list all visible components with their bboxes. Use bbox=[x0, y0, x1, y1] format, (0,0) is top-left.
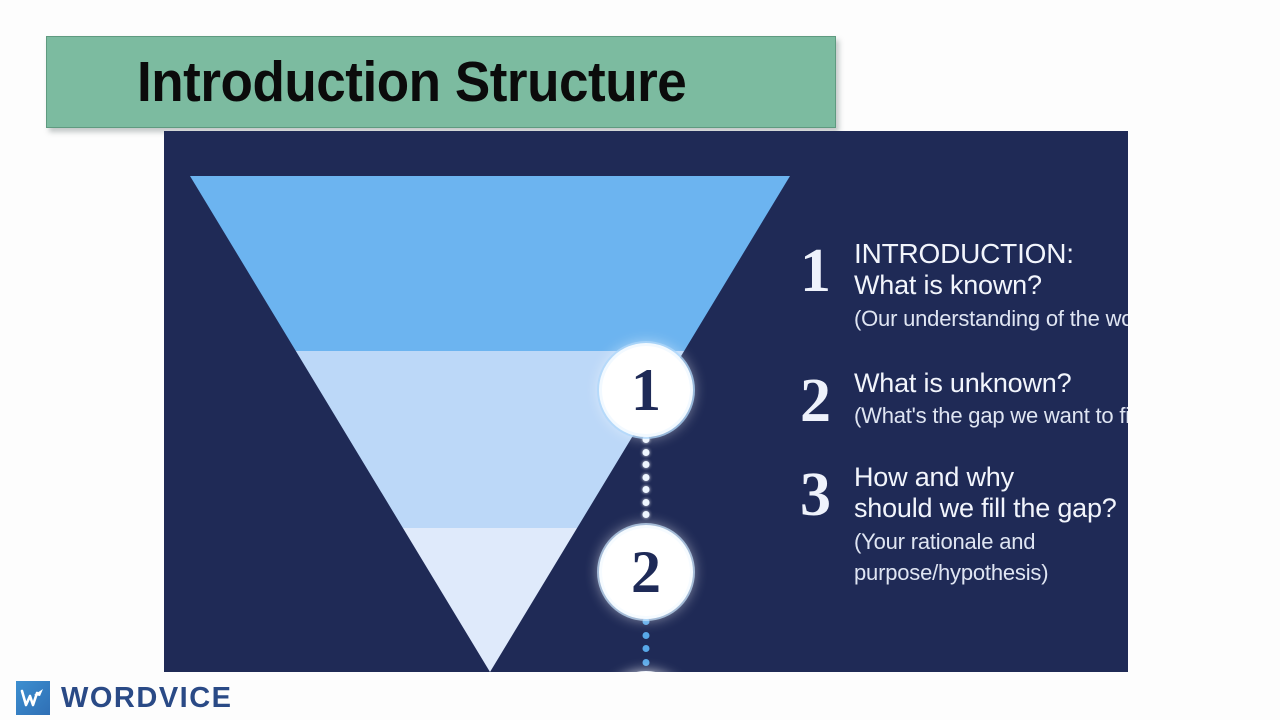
connector-dot bbox=[643, 632, 650, 639]
legend-heading-3-line2: should we fill the gap? bbox=[854, 493, 1128, 524]
legend-heading-1: What is known? bbox=[854, 270, 1128, 301]
wordvice-logo: WORDVICE bbox=[16, 681, 233, 715]
legend-subtext-1: (Our understanding of the world) bbox=[854, 303, 1128, 334]
legend-list: 1 INTRODUCTION: What is known? (Our unde… bbox=[800, 236, 1128, 612]
wordvice-w-icon bbox=[16, 681, 50, 715]
connector-dot bbox=[643, 659, 650, 666]
legend-item-1: 1 INTRODUCTION: What is known? (Our unde… bbox=[800, 236, 1128, 334]
legend-body-3: How and why should we fill the gap? (You… bbox=[854, 460, 1128, 588]
legend-number-3: 3 bbox=[800, 464, 854, 526]
connector-dot bbox=[643, 645, 650, 652]
connector-dot bbox=[643, 474, 650, 481]
slide-canvas: Introduction Structure bbox=[0, 0, 1280, 720]
slide-title-banner: Introduction Structure bbox=[46, 36, 836, 128]
funnel-diagram bbox=[190, 176, 790, 672]
connector-dot bbox=[643, 511, 650, 518]
connector-dot bbox=[643, 449, 650, 456]
legend-item-2: 2 What is unknown? (What's the gap we wa… bbox=[800, 366, 1128, 432]
legend-item-3: 3 How and why should we fill the gap? (Y… bbox=[800, 460, 1128, 588]
connector-dot bbox=[643, 499, 650, 506]
dotted-connector-1-2 bbox=[642, 436, 651, 518]
wordvice-wordmark: WORDVICE bbox=[61, 682, 233, 715]
funnel-band-2 bbox=[190, 351, 790, 528]
legend-body-2: What is unknown? (What's the gap we want… bbox=[854, 366, 1128, 432]
legend-number-2: 2 bbox=[800, 370, 854, 432]
funnel-badge-1: 1 bbox=[599, 343, 693, 437]
legend-heading-2: What is unknown? bbox=[854, 368, 1128, 399]
page-title: Introduction Structure bbox=[137, 49, 686, 115]
funnel-band-1 bbox=[190, 176, 790, 351]
connector-dot bbox=[643, 618, 650, 625]
funnel-badge-3: 3 bbox=[600, 671, 692, 672]
legend-body-1: INTRODUCTION: What is known? (Our unders… bbox=[854, 236, 1128, 334]
legend-subtext-2: (What's the gap we want to fill?) bbox=[854, 400, 1128, 431]
connector-dot bbox=[643, 436, 650, 443]
legend-subtext-3: (Your rationale and purpose/hypothesis) bbox=[854, 526, 1128, 588]
legend-number-1: 1 bbox=[800, 240, 854, 302]
funnel-badge-2: 2 bbox=[599, 525, 693, 619]
figure-panel: 1 2 3 1 INTRODUCTION: What is known? (Ou… bbox=[164, 131, 1128, 672]
dotted-connector-2-3 bbox=[642, 618, 651, 666]
legend-heading-3-line1: How and why bbox=[854, 462, 1128, 493]
connector-dot bbox=[643, 486, 650, 493]
funnel-band-3 bbox=[190, 528, 790, 672]
legend-heading-caps-1: INTRODUCTION: bbox=[854, 238, 1128, 270]
connector-dot bbox=[643, 461, 650, 468]
